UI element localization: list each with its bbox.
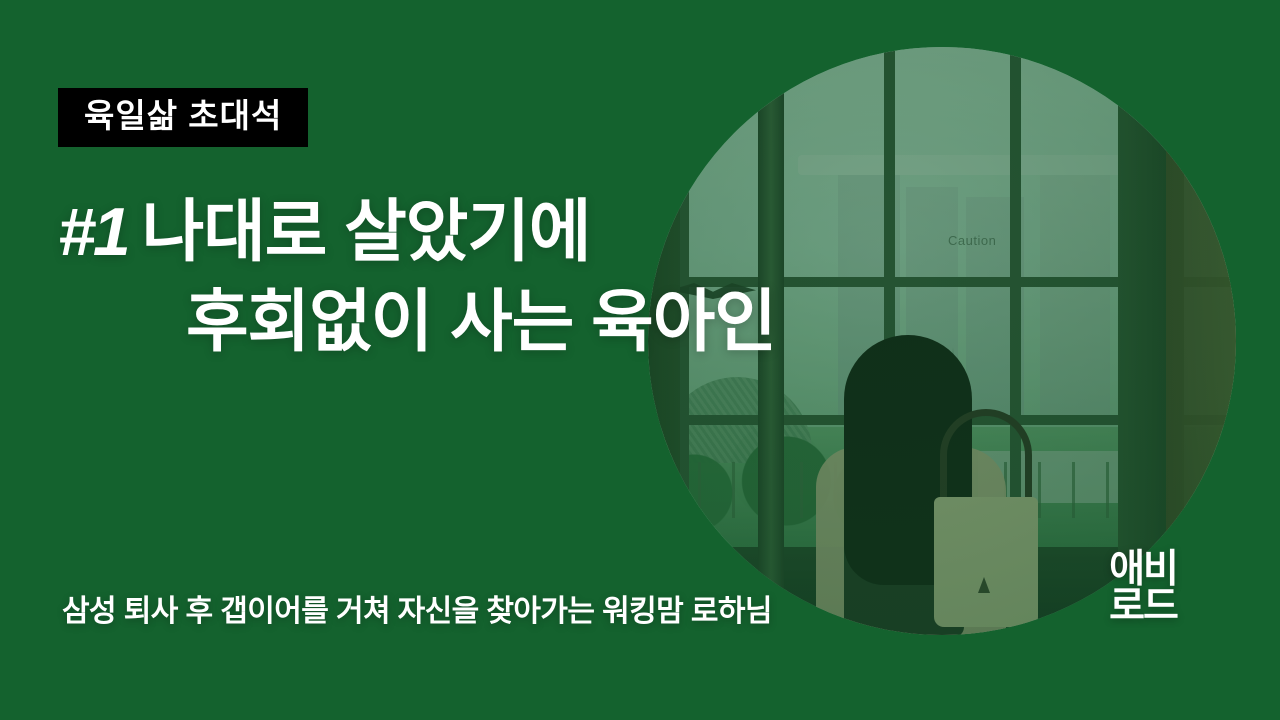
brand-logo: 애비 로드	[1103, 552, 1183, 625]
brand-logo-line-1: 애비	[1103, 552, 1183, 589]
content-layer: 육일삶 초대석 #1나대로 살았기에 후회없이 사는 육아인 삼성 퇴사 후 갭…	[0, 0, 1280, 720]
brand-logo-line-2: 로드	[1103, 589, 1183, 626]
subtitle-text: 삼성 퇴사 후 갭이어를 거쳐 자신을 찾아가는 워킹맘 로하님	[62, 586, 772, 630]
headline-line-1-text: 나대로 살았기에	[142, 194, 591, 270]
episode-number: #1	[58, 194, 128, 270]
headline-line-1: #1나대로 살았기에	[0, 188, 960, 278]
series-badge: 육일삶 초대석	[58, 88, 308, 147]
headline-line-2: 후회없이 사는 육아인	[0, 278, 960, 368]
thumbnail-card: Caution 육일삶 초대석 #1나대로 살았기에 후회없이 사는 육아인 삼…	[0, 0, 1280, 720]
page-title: #1나대로 살았기에 후회없이 사는 육아인	[0, 188, 960, 368]
